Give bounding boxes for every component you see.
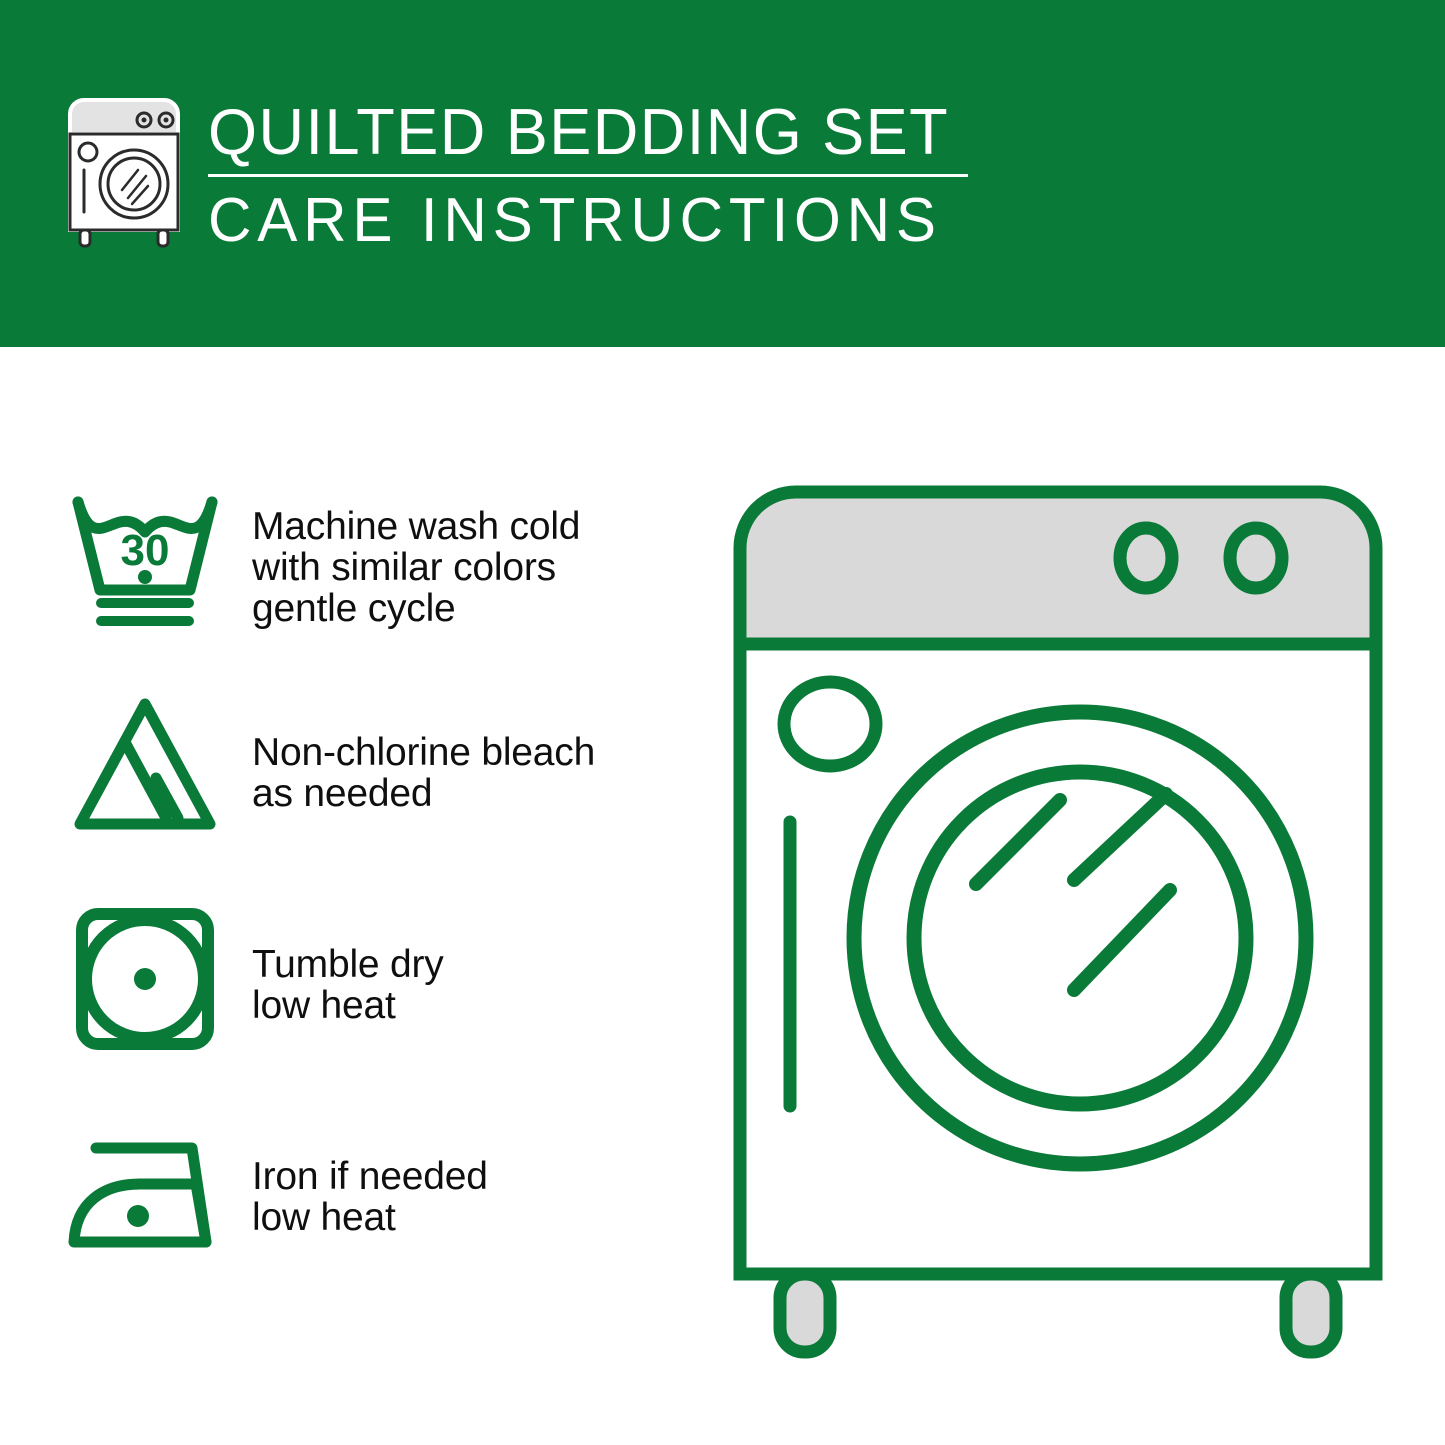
care-instruction-list: 30 Machine wash cold with similar colors… <box>60 470 700 1318</box>
title-divider <box>208 174 968 177</box>
washing-machine-icon <box>62 92 186 252</box>
iron-low-heat-icon <box>60 1106 230 1276</box>
page-title: QUILTED BEDDING SET <box>208 96 1036 168</box>
tumble-dry-low-heat-icon <box>60 894 230 1064</box>
front-load-washing-machine-illustration <box>718 470 1398 1370</box>
care-item-label: Machine wash cold with similar colors ge… <box>230 470 700 629</box>
header-title-block: QUILTED BEDDING SET CARE INSTRUCTIONS <box>208 92 1062 255</box>
indicator-light <box>784 682 876 766</box>
care-item-bleach: Non-chlorine bleach as needed <box>60 682 700 894</box>
control-knob-2 <box>1230 528 1282 588</box>
care-item-label: Tumble dry low heat <box>230 894 700 1026</box>
care-item-label: Iron if needed low heat <box>230 1106 700 1238</box>
machine-leg-left <box>780 1274 830 1352</box>
wash-tub-30-gentle-icon: 30 <box>60 470 230 640</box>
non-chlorine-bleach-triangle-icon <box>60 682 230 852</box>
care-instructions-infographic: QUILTED BEDDING SET CARE INSTRUCTIONS 30 <box>0 0 1445 1445</box>
drum-inner-ring <box>914 772 1246 1104</box>
care-item-tumble-dry: Tumble dry low heat <box>60 894 700 1106</box>
machine-leg-right <box>1286 1274 1336 1352</box>
care-item-iron: Iron if needed low heat <box>60 1106 700 1318</box>
wash-temperature-label: 30 <box>121 526 170 575</box>
header-content: QUILTED BEDDING SET CARE INSTRUCTIONS <box>62 92 1062 272</box>
control-knob-1 <box>1120 528 1172 588</box>
care-item-label: Non-chlorine bleach as needed <box>230 682 700 814</box>
page-subtitle: CARE INSTRUCTIONS <box>208 187 1036 255</box>
header-banner: QUILTED BEDDING SET CARE INSTRUCTIONS <box>0 0 1445 347</box>
care-item-machine-wash: 30 Machine wash cold with similar colors… <box>60 470 700 682</box>
